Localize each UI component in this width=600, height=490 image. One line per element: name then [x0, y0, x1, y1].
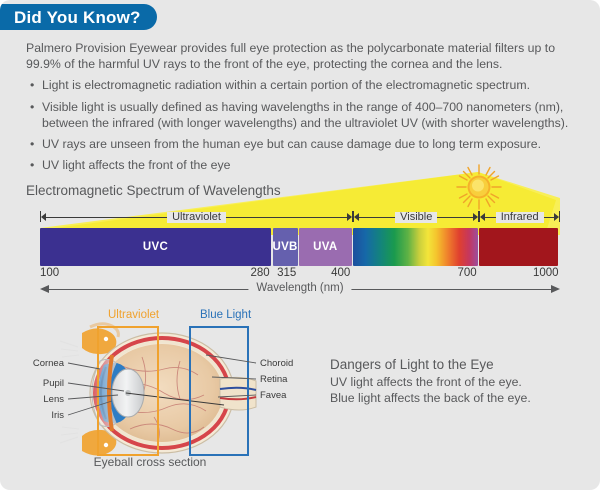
range-arrow-right-icon: [347, 213, 352, 221]
intro-bullet-item: •UV rays are unseen from the human eye b…: [26, 136, 578, 152]
band-label: UVB: [272, 241, 297, 253]
spectrum-band-3: [353, 228, 478, 266]
page-title: Did You Know?: [14, 9, 141, 26]
dangers-heading: Dangers of Light to the Eye: [330, 357, 580, 372]
spectrum-band-uvc: UVC: [40, 228, 271, 266]
eye-label-right-0: Choroid: [260, 358, 293, 369]
intro-bullet-text: Light is electromagnetic radiation withi…: [42, 78, 530, 92]
eye-label-left-1: Pupil: [43, 378, 64, 389]
range-cap-right-icon: [559, 211, 560, 222]
intro-bullet-item: •Light is electromagnetic radiation with…: [26, 77, 578, 93]
range-arrow-left-icon: [480, 213, 485, 221]
intro-bullet-text: Visible light is usually defined as havi…: [42, 100, 568, 130]
intro-bullet-text: UV rays are unseen from the human eye bu…: [42, 137, 541, 151]
spectrum-diagram: UltravioletVisibleInfrared UVCUVBUVA 100…: [40, 209, 560, 271]
spectrum-tick-280: 280: [251, 267, 270, 279]
dangers-line-2: Blue light affects the back of the eye.: [330, 391, 580, 407]
eye-label-right-2: Favea: [260, 390, 287, 401]
intro-block: Palmero Provision Eyewear provides full …: [26, 40, 578, 178]
spectrum-band-uva: UVA: [299, 228, 351, 266]
sun-icon: [455, 163, 503, 211]
range-label: Infrared: [496, 212, 544, 223]
bullet-dot-icon: •: [30, 157, 34, 173]
eye-label-left-2: Lens: [43, 394, 64, 405]
range-label: Visible: [395, 212, 437, 223]
did-you-know-infographic: Did You Know? Palmero Provision Eyewear …: [0, 0, 600, 490]
spectrum-range-infrared: Infrared: [479, 209, 560, 225]
range-arrow-left-icon: [354, 213, 359, 221]
spectrum-range-visible: Visible: [353, 209, 479, 225]
spectrum-title: Electromagnetic Spectrum of Wavelengths: [26, 183, 281, 198]
spectrum-range-ultraviolet: Ultraviolet: [40, 209, 353, 225]
wavelength-axis: Wavelength (nm): [40, 283, 560, 297]
eye-cross-section-diagram: Cornea Pupil Lens Iris Choroid Retina Fa…: [20, 305, 320, 480]
intro-bullet-item: •Visible light is usually defined as hav…: [26, 99, 578, 131]
eye-label-left-3: Iris: [51, 410, 64, 421]
spectrum-tick-400: 400: [331, 267, 350, 279]
spectrum-band-4: [479, 228, 558, 266]
eye-diagram-caption: Eyeball cross section: [0, 455, 300, 469]
range-arrow-left-icon: [41, 213, 46, 221]
spectrum-tick-100: 100: [40, 267, 59, 279]
axis-label: Wavelength (nm): [248, 282, 351, 294]
range-arrow-right-icon: [473, 213, 478, 221]
spectrum-tick-1000: 1000: [533, 267, 559, 279]
spectrum-band-uvb: UVB: [273, 228, 298, 266]
ultraviolet-zone-label: Ultraviolet: [108, 309, 159, 321]
spectrum-tick-315: 315: [277, 267, 296, 279]
dangers-line-1: UV light affects the front of the eye.: [330, 375, 580, 391]
intro-paragraph: Palmero Provision Eyewear provides full …: [26, 40, 578, 72]
intro-bullet-text: UV light affects the front of the eye: [42, 158, 230, 172]
spectrum-bar: UVCUVBUVA: [40, 228, 560, 266]
eye-label-right-1: Retina: [260, 374, 288, 385]
axis-arrow-right-icon: [551, 285, 560, 293]
spectrum-tick-row: 1002803154007001000: [40, 267, 560, 283]
dangers-block: Dangers of Light to the Eye UV light aff…: [330, 357, 580, 406]
eye-label-left-0: Cornea: [33, 358, 65, 369]
bullet-dot-icon: •: [30, 77, 34, 93]
range-label: Ultraviolet: [167, 212, 226, 223]
axis-arrow-left-icon: [40, 285, 49, 293]
blue-light-zone-label: Blue Light: [200, 309, 251, 321]
intro-bullet-list: •Light is electromagnetic radiation with…: [26, 77, 578, 173]
header-tab: Did You Know?: [0, 4, 157, 30]
band-label: UVA: [313, 241, 337, 253]
spectrum-range-row: UltravioletVisibleInfrared: [40, 209, 560, 225]
band-label: UVC: [143, 241, 168, 253]
spectrum-tick-700: 700: [457, 267, 476, 279]
range-arrow-right-icon: [554, 213, 559, 221]
bullet-dot-icon: •: [30, 136, 34, 152]
bullet-dot-icon: •: [30, 99, 34, 115]
eye-caption-text: Eyeball cross section: [94, 455, 207, 469]
